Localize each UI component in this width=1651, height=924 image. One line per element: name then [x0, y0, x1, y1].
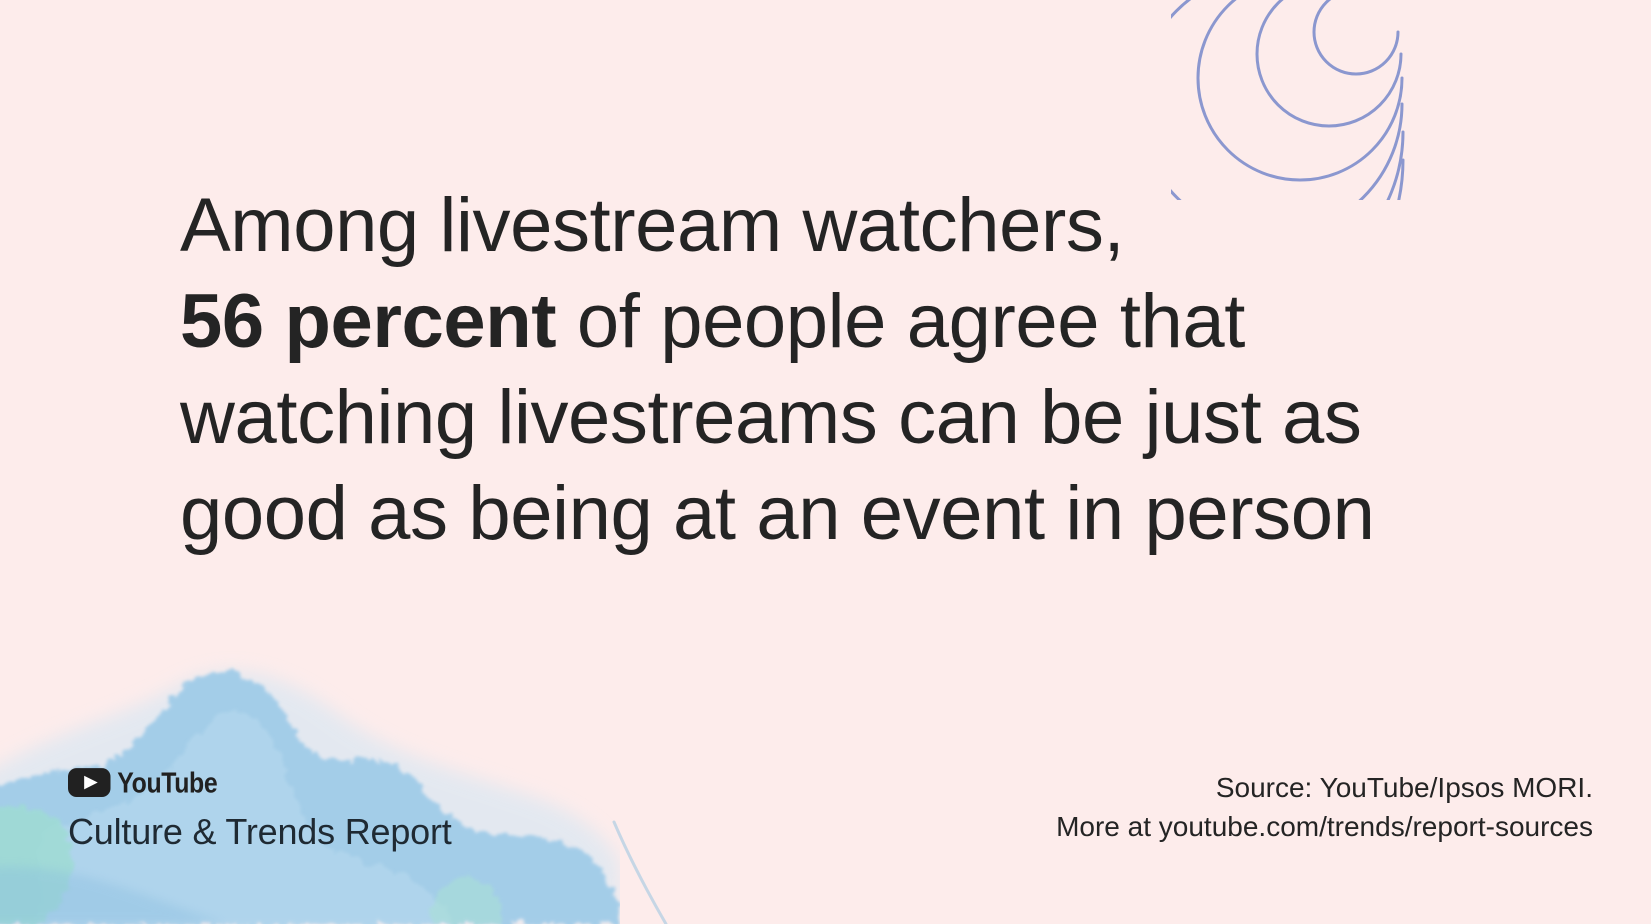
- headline-line-3: watching livestreams can be just as: [180, 370, 1410, 466]
- svg-text:YouTube: YouTube: [117, 767, 217, 797]
- source-note: Source: YouTube/Ipsos MORI. More at yout…: [1056, 768, 1593, 846]
- stat-card: Among livestream watchers, 56 percent of…: [0, 0, 1651, 924]
- stat-value: 56 percent: [180, 279, 556, 364]
- concentric-arcs-decoration: [1171, 0, 1651, 200]
- youtube-wordmark-icon: YouTube: [68, 763, 235, 797]
- brand-lockup: YouTube Culture & Trends Report: [68, 762, 452, 852]
- report-name: Culture & Trends Report: [68, 812, 452, 852]
- concentric-arcs-icon: [1171, 0, 1651, 200]
- thin-diagonal-stroke-icon: [600, 814, 720, 924]
- youtube-logo: YouTube: [68, 762, 452, 798]
- headline-line-1: Among livestream watchers,: [180, 178, 1410, 274]
- source-line-2: More at youtube.com/trends/report-source…: [1056, 807, 1593, 846]
- headline-statement: Among livestream watchers, 56 percent of…: [180, 178, 1410, 562]
- headline-line-2-rest: of people agree that: [556, 279, 1245, 364]
- headline-line-2: 56 percent of people agree that: [180, 274, 1410, 370]
- youtube-play-icon: [68, 768, 110, 797]
- headline-line-4: good as being at an event in person: [180, 466, 1410, 562]
- source-line-1: Source: YouTube/Ipsos MORI.: [1056, 768, 1593, 807]
